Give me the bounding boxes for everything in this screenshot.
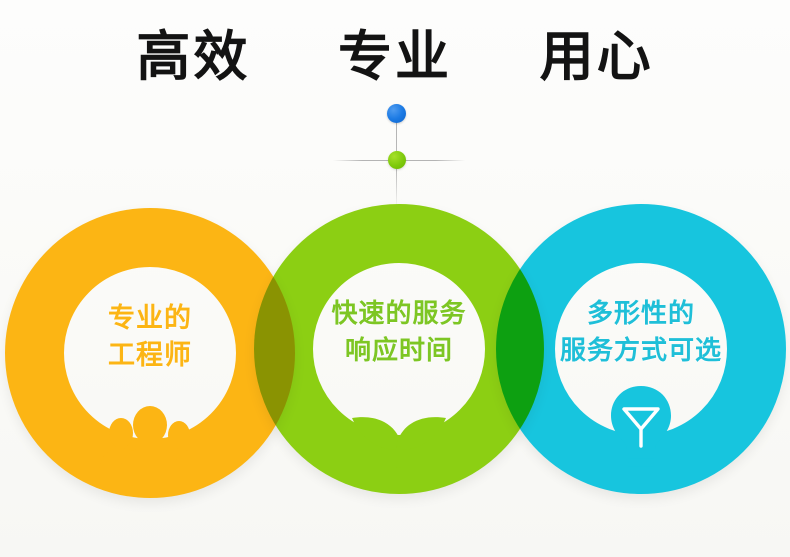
circle-label-line2: 服务方式可选 — [496, 333, 786, 370]
circle-label-line1: 专业的 — [108, 303, 192, 334]
circle-label-line1: 快速的服务 — [331, 299, 466, 329]
circle-label-line2: 工程师 — [5, 337, 295, 374]
circle-label-engineers: 专业的 工程师 — [5, 300, 295, 374]
circle-label-line1: 多形性的 — [587, 299, 695, 329]
promo-poster: 高效 专业 用心 专业的 工程师 — [0, 0, 790, 557]
circle-label-service-modes: 多形性的 服务方式可选 — [496, 296, 786, 370]
venn-rings — [0, 0, 790, 557]
people-group-icon — [5, 380, 295, 472]
lightbulb-icon — [496, 376, 786, 468]
